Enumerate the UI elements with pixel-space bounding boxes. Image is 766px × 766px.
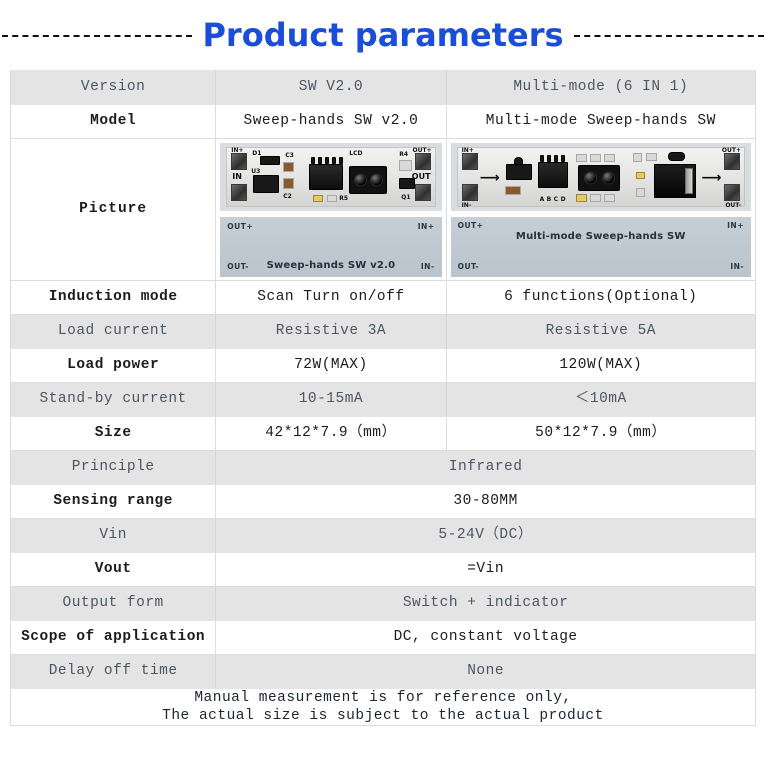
label-switch-d: D xyxy=(561,196,566,204)
row-label-vin: Vin xyxy=(11,519,216,553)
row-value-model-sw: Sweep-hands SW v2.0 xyxy=(216,105,446,139)
ic-pin xyxy=(332,157,336,164)
pcb-top-view-right: IN+ IN- ⟶ xyxy=(451,143,751,211)
label-c2: C2 xyxy=(283,193,292,201)
label-u3: U3 xyxy=(251,168,260,176)
label-switch-b: B xyxy=(547,196,552,204)
row-value-load-power-multimode: 120W(MAX) xyxy=(446,349,755,383)
row-value-load-current-sw: Resistive 3A xyxy=(216,315,446,349)
component-smd xyxy=(633,153,642,162)
component-main-ic xyxy=(309,164,343,190)
component-resistor xyxy=(327,195,337,202)
ic-pin xyxy=(540,155,544,162)
component-led xyxy=(576,194,587,202)
row-value-induction-mode-multimode: 6 functions(Optional) xyxy=(446,281,755,315)
page-title: Product parameters xyxy=(202,16,563,54)
label-switch-c: C xyxy=(554,196,558,204)
row-value-standby-current-sw: 10-15mA xyxy=(216,383,446,417)
bottom-label-out-plus: OUT+ xyxy=(227,222,253,231)
component-smd xyxy=(604,194,615,202)
spec-table: Version SW V2.0 Multi-mode (6 IN 1) Mode… xyxy=(10,70,756,726)
label-q1: Q1 xyxy=(401,194,410,202)
bottom-label-in-plus: IN+ xyxy=(418,222,435,231)
row-label-model: Model xyxy=(11,105,216,139)
row-label-version: Version xyxy=(11,71,216,105)
pcb-image-multimode: IN+ IN- ⟶ xyxy=(451,143,751,277)
pcb-top-view-left: IN+ IN D1 C3 U3 C2 xyxy=(220,143,441,211)
component-ir-sensor-pair xyxy=(349,166,387,194)
measurement-disclaimer: Manual measurement is for reference only… xyxy=(11,689,756,726)
row-value-model-multimode: Multi-mode Sweep-hands SW xyxy=(446,105,755,139)
component-r4 xyxy=(399,160,412,171)
label-lcd: LCD xyxy=(349,150,362,158)
component-main-ic xyxy=(538,162,568,188)
row-value-size-multimode: 50*12*7.9（mm） xyxy=(446,417,755,451)
bottom-board-name: Multi-mode Sweep-hands SW xyxy=(451,231,751,244)
table-row: Principle Infrared xyxy=(11,451,756,485)
row-value-sensing-range: 30-80MM xyxy=(216,485,756,519)
ic-pin xyxy=(561,155,565,162)
bottom-board-name: Sweep-hands SW v2.0 xyxy=(220,260,441,273)
pcb-bottom-view-left: OUT+ IN+ OUT- IN- Sweep-hands SW v2.0 xyxy=(220,217,441,277)
table-row: Output form Switch + indicator xyxy=(11,587,756,621)
component-regulator xyxy=(506,164,532,180)
component-mosfet xyxy=(654,164,696,198)
row-label-principle: Principle xyxy=(11,451,216,485)
ir-receiver-lens xyxy=(370,173,383,186)
row-label-delay-off-time: Delay off time xyxy=(11,655,216,689)
pad-in-plus xyxy=(462,153,478,170)
table-row: Induction mode Scan Turn on/off 6 functi… xyxy=(11,281,756,315)
ic-pin xyxy=(318,157,322,164)
ic-pin xyxy=(311,157,315,164)
page-title-bar: Product parameters xyxy=(0,0,766,70)
picture-cell-multimode: IN+ IN- ⟶ xyxy=(446,139,755,281)
component-smd xyxy=(646,153,657,161)
ic-pin xyxy=(339,157,343,164)
component-led xyxy=(313,195,323,202)
table-row: Version SW V2.0 Multi-mode (6 IN 1) xyxy=(11,71,756,105)
table-row: Model Sweep-hands SW v2.0 Multi-mode Swe… xyxy=(11,105,756,139)
row-value-induction-mode-sw: Scan Turn on/off xyxy=(216,281,446,315)
ir-emitter-lens xyxy=(354,173,367,186)
component-resistor xyxy=(505,186,521,195)
pcb-image-sw-v2: IN+ IN D1 C3 U3 C2 xyxy=(220,143,441,277)
label-in-minus: IN- xyxy=(462,202,472,210)
component-diode xyxy=(668,152,685,161)
label-r4: R4 xyxy=(399,151,408,159)
ir-emitter-lens xyxy=(584,171,597,184)
row-label-scope-of-application: Scope of application xyxy=(11,621,216,655)
label-out-plus: OUT+ xyxy=(412,147,431,155)
label-in: IN xyxy=(232,172,242,182)
pad-out-minus xyxy=(724,184,740,201)
ic-pin xyxy=(547,155,551,162)
component-smd xyxy=(590,194,601,202)
component-u3 xyxy=(253,175,279,193)
pad-out-plus xyxy=(724,153,740,170)
row-value-load-power-sw: 72W(MAX) xyxy=(216,349,446,383)
pad-in-plus xyxy=(231,153,247,170)
title-dash-right xyxy=(574,35,764,37)
row-label-sensing-range: Sensing range xyxy=(11,485,216,519)
table-row-note: Manual measurement is for reference only… xyxy=(11,689,756,726)
output-arrow-icon: ⟶ xyxy=(701,171,722,185)
pad-in-minus xyxy=(231,184,247,201)
component-inductor xyxy=(514,157,523,165)
row-value-load-current-multimode: Resistive 5A xyxy=(446,315,755,349)
pad-in-minus xyxy=(462,184,478,201)
table-row: Scope of application DC, constant voltag… xyxy=(11,621,756,655)
table-row: Delay off time None xyxy=(11,655,756,689)
component-smd xyxy=(576,154,587,162)
pcb-board-left: IN+ IN D1 C3 U3 C2 xyxy=(226,147,435,207)
bottom-label-in-minus: IN- xyxy=(730,262,744,271)
pcb-bottom-view-right: OUT+ IN+ OUT- IN- Multi-mode Sweep-hands… xyxy=(451,217,751,277)
label-out: OUT xyxy=(412,172,431,182)
row-label-standby-current: Stand-by current xyxy=(11,383,216,417)
row-value-version-sw: SW V2.0 xyxy=(216,71,446,105)
spec-table-wrapper: Version SW V2.0 Multi-mode (6 IN 1) Mode… xyxy=(0,70,766,726)
table-row: Load current Resistive 3A Resistive 5A xyxy=(11,315,756,349)
row-label-size: Size xyxy=(11,417,216,451)
row-value-scope-of-application: DC, constant voltage xyxy=(216,621,756,655)
label-out-plus: OUT+ xyxy=(722,147,741,155)
picture-cell-sw-v2: IN+ IN D1 C3 U3 C2 xyxy=(216,139,446,281)
label-out-minus: OUT- xyxy=(725,202,741,210)
row-label-picture: Picture xyxy=(11,139,216,281)
row-value-output-form: Switch + indicator xyxy=(216,587,756,621)
pad-out-plus xyxy=(415,153,431,170)
bottom-label-out-plus: OUT+ xyxy=(458,221,484,230)
component-c2-body xyxy=(283,178,294,189)
component-led xyxy=(636,172,645,179)
title-dash-left xyxy=(2,35,192,37)
component-ir-sensor-pair xyxy=(578,165,620,191)
pad-out-minus xyxy=(415,184,431,201)
table-row: Stand-by current 10-15mA ＜10mA xyxy=(11,383,756,417)
component-c3 xyxy=(283,162,294,172)
table-row: Vout =Vin xyxy=(11,553,756,587)
table-row: Size 42*12*7.9（mm） 50*12*7.9（mm） xyxy=(11,417,756,451)
ic-pin xyxy=(554,155,558,162)
row-label-output-form: Output form xyxy=(11,587,216,621)
row-value-size-sw: 42*12*7.9（mm） xyxy=(216,417,446,451)
mosfet-heat-tab xyxy=(685,168,693,194)
disclaimer-line-2: The actual size is subject to the actual… xyxy=(11,707,755,725)
table-row: Sensing range 30-80MM xyxy=(11,485,756,519)
label-r5: R5 xyxy=(339,195,348,203)
label-in-plus: IN+ xyxy=(462,147,474,155)
component-smd xyxy=(604,154,615,162)
ic-pin xyxy=(325,157,329,164)
label-c3: C3 xyxy=(285,152,294,160)
component-smd xyxy=(636,188,645,197)
label-in-plus: IN+ xyxy=(231,147,243,155)
row-label-induction-mode: Induction mode xyxy=(11,281,216,315)
row-label-vout: Vout xyxy=(11,553,216,587)
bottom-label-out-minus: OUT- xyxy=(458,262,480,271)
label-switch-a: A xyxy=(540,196,545,204)
table-row: Vin 5-24V（DC） xyxy=(11,519,756,553)
row-value-vout: =Vin xyxy=(216,553,756,587)
table-row-picture: Picture IN+ IN D1 xyxy=(11,139,756,281)
pcb-board-right: IN+ IN- ⟶ xyxy=(457,147,745,207)
row-value-version-multimode: Multi-mode (6 IN 1) xyxy=(446,71,755,105)
component-d1 xyxy=(260,156,280,165)
component-smd xyxy=(590,154,601,162)
row-label-load-power: Load power xyxy=(11,349,216,383)
row-value-standby-current-multimode: ＜10mA xyxy=(446,383,755,417)
table-row: Load power 72W(MAX) 120W(MAX) xyxy=(11,349,756,383)
input-arrow-icon: ⟶ xyxy=(480,171,501,185)
row-value-vin: 5-24V（DC） xyxy=(216,519,756,553)
bottom-label-in-plus: IN+ xyxy=(727,221,744,230)
row-label-load-current: Load current xyxy=(11,315,216,349)
row-value-principle: Infrared xyxy=(216,451,756,485)
ir-receiver-lens xyxy=(602,171,615,184)
disclaimer-line-1: Manual measurement is for reference only… xyxy=(11,689,755,707)
row-value-delay-off-time: None xyxy=(216,655,756,689)
